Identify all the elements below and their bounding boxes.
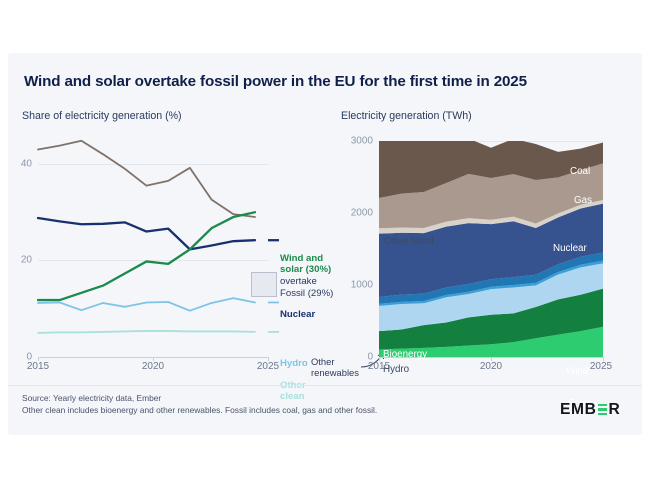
chart-screenshot: Wind and solar overtake fossil power in … [0, 0, 650, 500]
label-hydro: Hydro [280, 358, 308, 369]
area-label-coal: Coal [570, 166, 590, 177]
label-nuclear: Nuclear [280, 309, 315, 320]
right-ytick-1000: 1000 [337, 280, 373, 291]
ember-logo-text-a: EMB [560, 401, 596, 419]
line-1: renewables [311, 367, 359, 378]
area-label-gas: Gas [574, 195, 592, 206]
right-ytick-3000: 3000 [337, 136, 373, 147]
ember-logo-green-e-icon [598, 404, 607, 416]
label-wind-and-solar: Wind andsolar (30%) [280, 253, 331, 276]
line-series-wind-and-solar [38, 212, 255, 300]
left-panel-subtitle: Share of electricity generation (%) [22, 110, 182, 122]
left-ytick-20: 20 [8, 255, 32, 266]
footer-divider [8, 385, 642, 386]
area-label-bioenergy: Bioenergy [383, 349, 427, 360]
right-xtick-2020: 2020 [480, 361, 502, 372]
crossover-highlight-box [251, 272, 277, 297]
line-1: solar (30%) [280, 264, 331, 275]
left-xtick-2020: 2020 [142, 361, 164, 372]
footer-text: Source: Yearly electricity data, Ember O… [22, 392, 377, 417]
line-0: Wind and [280, 253, 331, 264]
line-series-fossil [38, 141, 255, 217]
right-ytick-2000: 2000 [337, 208, 373, 219]
left-chart-lines [38, 135, 286, 357]
ember-logo: EMB R [560, 401, 620, 418]
line-series-hydro [38, 298, 255, 311]
page-title: Wind and solar overtake fossil power in … [24, 73, 624, 90]
left-ytick-40: 40 [8, 158, 32, 169]
area-label-hydro: Hydro [383, 364, 409, 375]
right-xtick-2025: 2025 [590, 361, 612, 372]
footer-source: Source: Yearly electricity data, Ember [22, 392, 377, 404]
label-overtake: overtake [280, 276, 317, 287]
footer-note: Other clean includes bioenergy and other… [22, 404, 377, 416]
label-fossil: Fossil (29%) [280, 288, 333, 299]
left-xtick-2025: 2025 [257, 361, 279, 372]
right-panel-subtitle: Electricity generation (TWh) [341, 110, 472, 122]
line-series-other-clean [38, 331, 255, 333]
chart-card: Wind and solar overtake fossil power in … [8, 53, 642, 435]
ember-logo-text-b: R [608, 401, 620, 419]
left-x-axis: 2015 2020 2025 [38, 357, 268, 383]
left-xtick-2015: 2015 [27, 361, 49, 372]
area-label-nuclear: Nuclear [553, 243, 587, 254]
line-chart-share: 02040 [38, 135, 268, 357]
area-label-other-fossil: Other fossil [384, 236, 434, 247]
area-label-wind: Wind [566, 366, 588, 377]
